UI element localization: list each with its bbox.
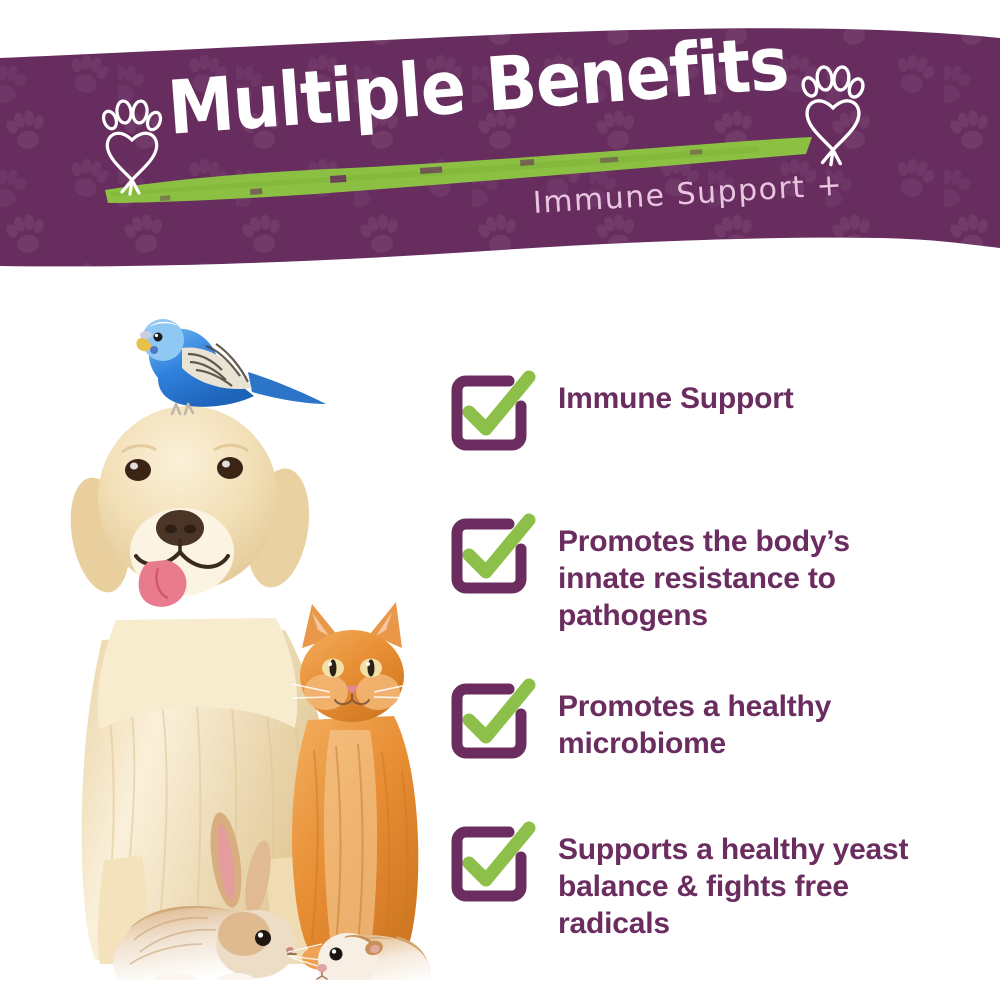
pets-photo-illustration — [30, 300, 450, 980]
orange-cat — [292, 602, 418, 970]
benefit-label: Promotes a healthy microbiome — [558, 684, 831, 762]
benefit-item: Promotes the body’s innate resistance to… — [452, 519, 850, 634]
checkbox-checked-icon — [452, 684, 530, 762]
benefit-label: Immune Support — [558, 376, 794, 417]
banner-shape — [0, 0, 1000, 290]
benefits-infographic: Multiple Benefits Immune Support + Immun… — [0, 0, 1000, 1000]
banner-fill — [0, 0, 1000, 290]
checkbox-checked-icon — [452, 519, 530, 597]
benefit-item: Supports a healthy yeast balance & fight… — [452, 827, 908, 942]
checkbox-checked-icon — [452, 376, 530, 454]
benefit-label: Promotes the body’s innate resistance to… — [558, 519, 850, 634]
budgerigar-bird — [136, 319, 326, 414]
benefit-item: Promotes a healthy microbiome — [452, 684, 831, 762]
benefit-label: Supports a healthy yeast balance & fight… — [558, 827, 908, 942]
benefit-item: Immune Support — [452, 376, 794, 454]
header-banner: Multiple Benefits Immune Support + — [0, 0, 1000, 290]
checkbox-checked-icon — [452, 827, 530, 905]
